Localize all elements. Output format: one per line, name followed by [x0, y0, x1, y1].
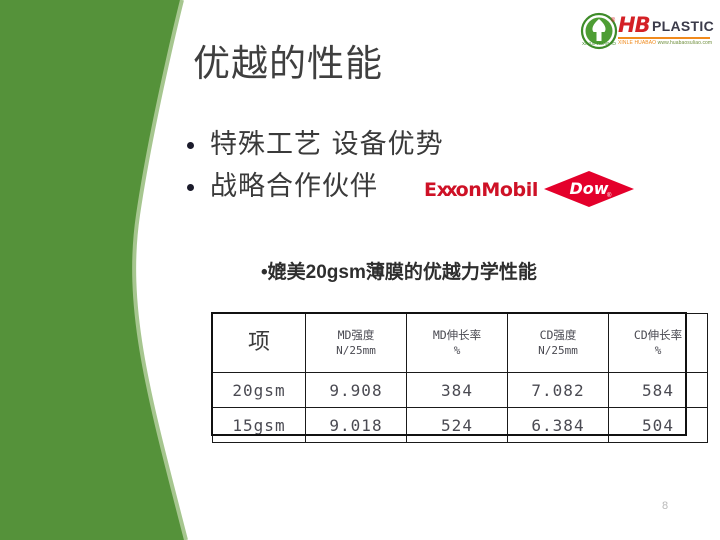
table-cell-r0c3: 7.082 [508, 373, 609, 408]
table-header-label-4: CD伸长率 [634, 328, 682, 342]
mechanical-properties-table: 项 MD强度 N/25mm MD伸长率 % CD强度 N/25mm CD伸长率 … [212, 313, 708, 443]
table-cell-r1c0: 15gsm [213, 408, 306, 443]
logo-orange-rule [618, 37, 710, 39]
exxonmobil-logo: ExxonMobil [424, 181, 538, 201]
table-row: 20gsm 9.908 384 7.082 584 [213, 373, 708, 408]
table-header-cell-1: MD强度 N/25mm [306, 314, 407, 373]
table-cell-r0c1: 9.908 [306, 373, 407, 408]
sub-bullet-text: •媲美20gsm薄膜的优越力学性能 [261, 257, 537, 284]
table-cell-r1c4: 504 [609, 408, 708, 443]
bullet-text-2: 战略合作伙伴 [210, 172, 378, 202]
table-header-cell-4: CD伸长率 % [609, 314, 708, 373]
table-header-row: 项 MD强度 N/25mm MD伸长率 % CD强度 N/25mm CD伸长率 … [213, 314, 708, 373]
tree-circle-emblem-icon: XINLE HUABAO ® [580, 12, 618, 50]
table-cell-r0c2: 384 [407, 373, 508, 408]
logo-word-plastic: PLASTIC [652, 19, 714, 33]
table-header-label-0: 项 [248, 330, 270, 355]
table-cell-r0c0: 20gsm [213, 373, 306, 408]
table-header-cell-0: 项 [213, 314, 306, 373]
logo-subtitle: XINLE HUABAO www.huabaosuliao.com [618, 40, 714, 47]
logo-sub-domain: www.huabaosuliao.com [658, 40, 713, 46]
svg-text:®: ® [611, 17, 616, 24]
page-title: 优越的性能 [193, 33, 383, 87]
table-header-label-3: CD强度 [540, 328, 577, 342]
table-header-unit-2: % [409, 343, 505, 359]
table-cell-r0c4: 584 [609, 373, 708, 408]
table-header-label-2: MD伸长率 [433, 328, 481, 342]
table-header-cell-2: MD伸长率 % [407, 314, 508, 373]
dow-logo: Dow ® [543, 170, 635, 208]
table-header-unit-4: % [611, 343, 705, 359]
bullet-dot-icon [187, 142, 194, 149]
bullet-dot-icon [187, 184, 194, 191]
table-cell-r1c3: 6.384 [508, 408, 609, 443]
table-header-cell-3: CD强度 N/25mm [508, 314, 609, 373]
exxonmobil-part-3: onMobil [456, 181, 538, 200]
table-header-label-1: MD强度 [338, 328, 375, 342]
dow-wordmark: Dow [543, 170, 635, 208]
table-cell-r1c2: 524 [407, 408, 508, 443]
exxonmobil-interlocking-xx: xx [437, 181, 455, 200]
table-row: 15gsm 9.018 524 6.384 504 [213, 408, 708, 443]
bullet-text-1: 特殊工艺 设备优势 [210, 130, 444, 160]
exxonmobil-part-1: E [424, 181, 437, 200]
slide-number: 8 [662, 500, 668, 512]
svg-text:XINLE HUABAO: XINLE HUABAO [582, 41, 616, 46]
logo-brand-hb: HB [618, 15, 650, 36]
presentation-slide: XINLE HUABAO ® HB PLASTIC XINLE HUABAO w… [0, 0, 720, 540]
dow-registered-mark: ® [607, 193, 611, 199]
company-logo: XINLE HUABAO ® HB PLASTIC XINLE HUABAO w… [580, 10, 712, 56]
bullet-item-2: 战略合作伙伴 [187, 172, 378, 202]
logo-sub-company: XINLE HUABAO [618, 40, 656, 46]
table-header-unit-1: N/25mm [308, 343, 404, 359]
table-header-unit-3: N/25mm [510, 343, 606, 359]
bullet-item-1: 特殊工艺 设备优势 [187, 130, 444, 160]
table-cell-r1c1: 9.018 [306, 408, 407, 443]
